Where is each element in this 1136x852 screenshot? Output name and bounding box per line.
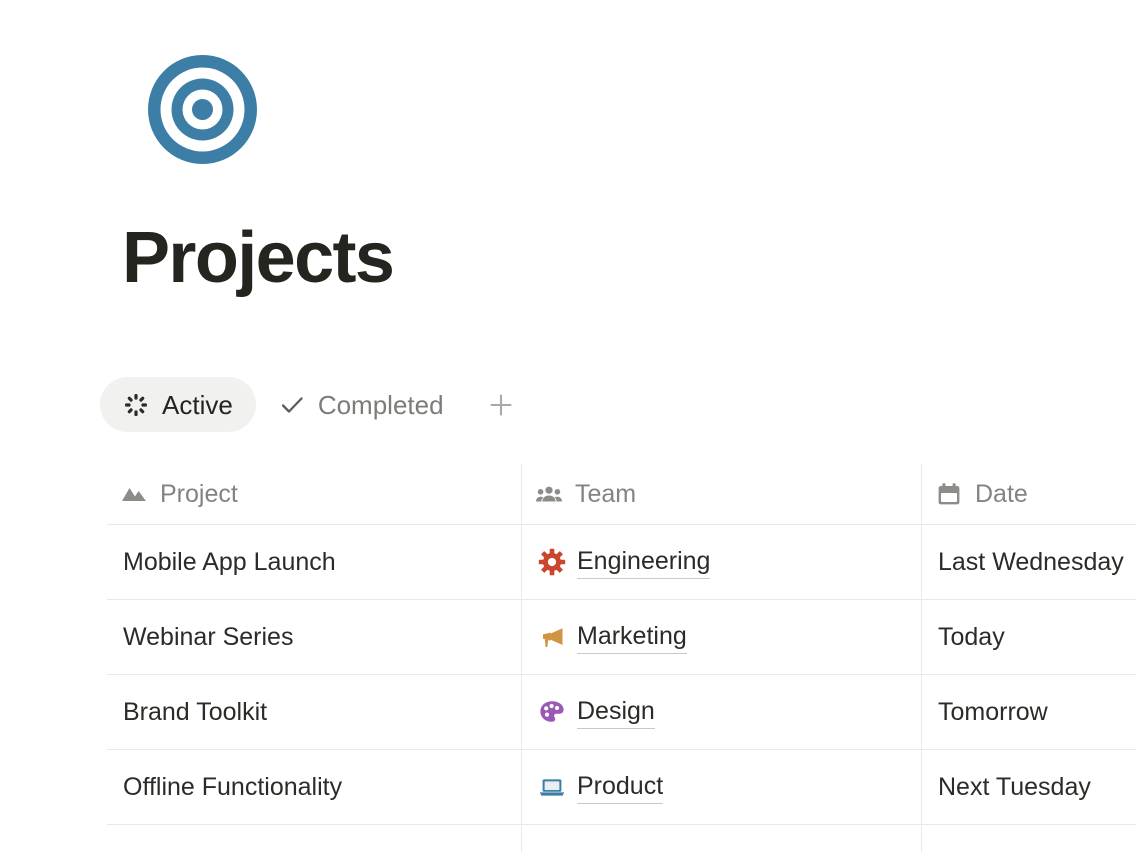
cell-project[interactable]: Offline Functionality (107, 750, 521, 824)
date-value: Last Wednesday (938, 547, 1124, 577)
project-name: Offline Functionality (123, 772, 342, 802)
calendar-icon (936, 481, 962, 507)
people-group-icon (536, 481, 562, 507)
cell-team[interactable] (521, 825, 921, 852)
bullseye-target-icon (148, 55, 257, 164)
cell-team[interactable]: Product (521, 750, 921, 824)
spinner-icon (123, 392, 149, 418)
add-view-button[interactable] (479, 383, 523, 427)
team-link[interactable]: Product (577, 771, 663, 804)
date-value: Next Tuesday (938, 772, 1091, 802)
cell-team[interactable]: Marketing (521, 600, 921, 674)
cell-team[interactable]: Engineering (521, 525, 921, 599)
table-row[interactable]: Offline Functionality Product Next Tuesd… (107, 750, 1136, 825)
cell-project[interactable] (107, 825, 521, 852)
check-icon (279, 392, 305, 418)
tab-active-label: Active (162, 390, 233, 420)
tab-completed-label: Completed (318, 390, 444, 420)
column-header-project-label: Project (160, 479, 238, 509)
team-link[interactable]: Engineering (577, 546, 710, 579)
project-name: Mobile App Launch (123, 547, 336, 577)
megaphone-emoji (538, 623, 566, 651)
cell-project[interactable]: Webinar Series (107, 600, 521, 674)
table-row[interactable]: Webinar Series Marketing Today (107, 600, 1136, 675)
team-link[interactable]: Design (577, 696, 655, 729)
gear-emoji (538, 548, 566, 576)
table-row[interactable]: Brand Toolkit Design (107, 675, 1136, 750)
project-name: Webinar Series (123, 622, 293, 652)
page-title: Projects (122, 214, 393, 302)
column-header-date[interactable]: Date (921, 464, 1136, 524)
table-row[interactable]: Mobile App Launch (107, 525, 1136, 600)
view-tabs: Active Completed (100, 377, 523, 432)
cell-date[interactable]: Last Wednesday (921, 525, 1136, 599)
date-value: Tomorrow (938, 697, 1048, 727)
tab-active[interactable]: Active (100, 377, 256, 432)
cell-date[interactable]: Today (921, 600, 1136, 674)
project-name: Brand Toolkit (123, 697, 267, 727)
cell-date[interactable] (921, 825, 1136, 852)
column-header-date-label: Date (975, 479, 1028, 509)
cell-project[interactable]: Mobile App Launch (107, 525, 521, 599)
projects-table: Project Team (107, 464, 1136, 852)
cell-team[interactable]: Design (521, 675, 921, 749)
projects-page: Projects Active (0, 0, 1136, 852)
date-value: Today (938, 622, 1005, 652)
tab-completed[interactable]: Completed (256, 377, 467, 432)
cell-project[interactable]: Brand Toolkit (107, 675, 521, 749)
column-header-project[interactable]: Project (107, 464, 521, 524)
cell-date[interactable]: Next Tuesday (921, 750, 1136, 824)
table-header-row: Project Team (107, 464, 1136, 525)
column-header-team-label: Team (575, 479, 636, 509)
laptop-emoji (538, 773, 566, 801)
column-header-team[interactable]: Team (521, 464, 921, 524)
cell-date[interactable]: Tomorrow (921, 675, 1136, 749)
mountains-image-icon (121, 481, 147, 507)
table-row[interactable] (107, 825, 1136, 852)
artist-palette-emoji (538, 698, 566, 726)
team-link[interactable]: Marketing (577, 621, 687, 654)
